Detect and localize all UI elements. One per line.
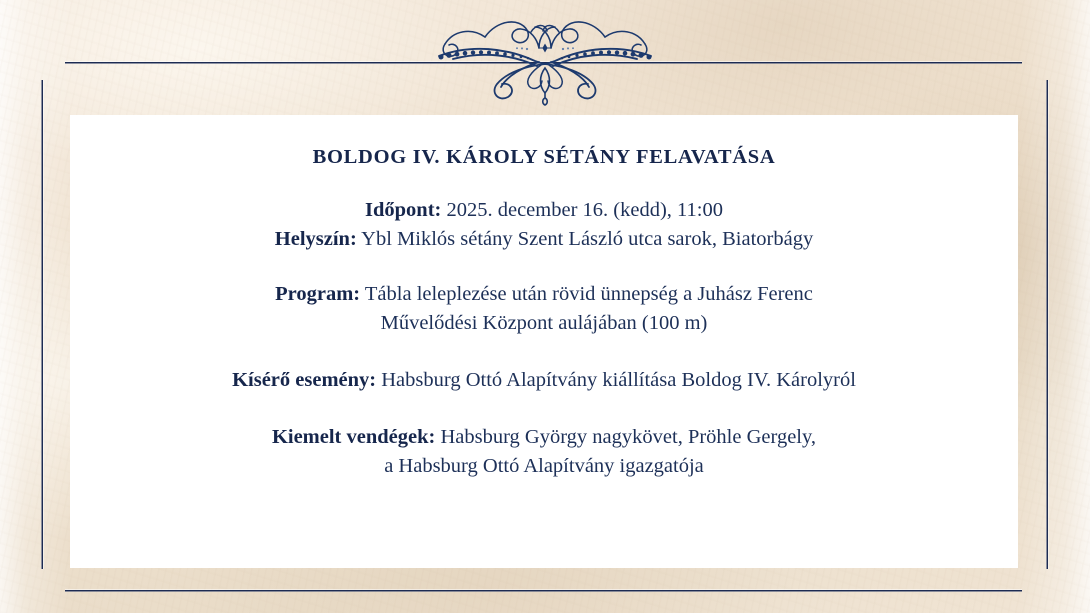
label-idopont: Időpont: bbox=[365, 199, 441, 221]
detail-line-idopont: Időpont: 2025. december 16. (kedd), 11:0… bbox=[88, 196, 1000, 225]
label-kisero-esemeny: Kísérő esemény: bbox=[232, 369, 376, 391]
value-program-line2: Művelődési Központ aulájában (100 m) bbox=[381, 312, 708, 334]
detail-line-kiemelt-vendegek: Kiemelt vendégek: Habsburg György nagykö… bbox=[88, 423, 1000, 481]
label-helyszin: Helyszín: bbox=[275, 228, 357, 250]
value-helyszin: Ybl Miklós sétány Szent László utca saro… bbox=[361, 228, 813, 250]
frame-rule-left bbox=[41, 80, 44, 569]
card-inner: BOLDOG IV. KÁROLY SÉTÁNY FELAVATÁSA Időp… bbox=[70, 145, 1018, 481]
detail-line-program: Program: Tábla leleplezése után rövid ün… bbox=[88, 280, 1000, 338]
label-kiemelt-vendegek: Kiemelt vendégek: bbox=[272, 426, 435, 448]
frame-rule-bottom bbox=[65, 589, 1022, 592]
value-program-line1: Tábla leleplezése után rövid ünnepség a … bbox=[365, 283, 813, 305]
frame-rule-right bbox=[1046, 80, 1049, 569]
value-vendegek-line1: Habsburg György nagykövet, Pröhle Gergel… bbox=[440, 426, 816, 448]
page-title: BOLDOG IV. KÁROLY SÉTÁNY FELAVATÁSA bbox=[88, 145, 1000, 170]
content-card: BOLDOG IV. KÁROLY SÉTÁNY FELAVATÁSA Időp… bbox=[70, 115, 1018, 568]
detail-line-kisero-esemeny: Kísérő esemény: Habsburg Ottó Alapítvány… bbox=[88, 366, 1000, 395]
value-idopont: 2025. december 16. (kedd), 11:00 bbox=[446, 199, 722, 221]
label-program: Program: bbox=[275, 283, 360, 305]
value-kisero-esemeny: Habsburg Ottó Alapítvány kiállítása Bold… bbox=[381, 369, 856, 391]
value-vendegek-line2: a Habsburg Ottó Alapítvány igazgatója bbox=[384, 455, 704, 477]
detail-line-helyszin: Helyszín: Ybl Miklós sétány Szent László… bbox=[88, 225, 1000, 254]
ornament-center-diamond bbox=[540, 44, 550, 53]
decorative-flourish-icon bbox=[427, 4, 663, 108]
